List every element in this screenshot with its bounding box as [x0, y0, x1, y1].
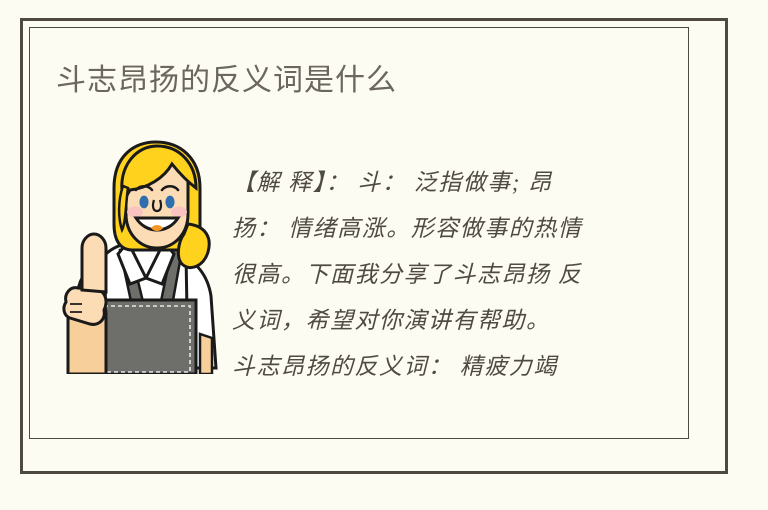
article-line: 斗志昂扬的反义词： 精疲力竭: [232, 344, 652, 390]
article-line: 扬： 情绪高涨。形容做事的热情: [232, 206, 652, 252]
article-line: 义词，希望对你演讲有帮助。: [232, 298, 652, 344]
page-title: 斗志昂扬的反义词是什么: [56, 60, 676, 102]
article-text: 【解 释】： 斗： 泛指做事; 昂 扬： 情绪高涨。形容做事的热情 很高。下面我…: [232, 160, 652, 390]
girl-pointing-up-illustration: [60, 138, 232, 374]
article-line: 很高。下面我分享了斗志昂扬 反: [232, 252, 652, 298]
girl-pointing-up-icon: [60, 138, 232, 374]
article-line: 【解 释】： 斗： 泛指做事; 昂: [232, 160, 652, 206]
page-canvas: 斗志昂扬的反义词是什么: [0, 0, 768, 510]
